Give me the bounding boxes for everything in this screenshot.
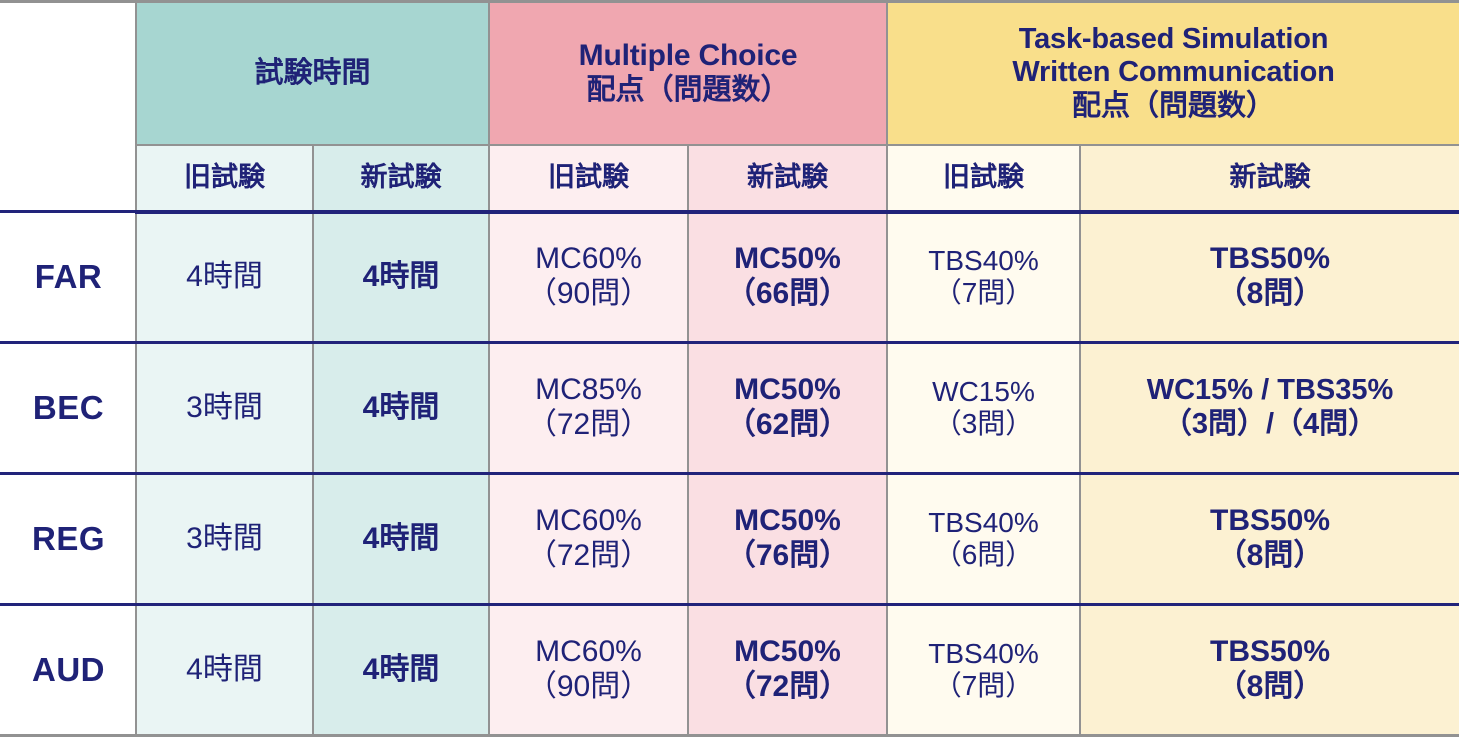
cell-reg-time-new: 4時間 — [313, 474, 489, 605]
cell-bec-mc-new-line2: （62問） — [691, 408, 884, 443]
cell-bec-tbs-new: WC15% / TBS35% （3問）/（4問） — [1080, 343, 1459, 474]
sub-header-tbs-old: 旧試験 — [887, 145, 1080, 212]
row-label-reg: REG — [1, 474, 136, 605]
group-header-tbs-label-en-line1: Task-based Simulation — [890, 23, 1457, 57]
group-header-mc-label-en: Multiple Choice — [492, 39, 884, 74]
cell-aud-tbs-new: TBS50% （8問） — [1080, 605, 1459, 736]
table-row: FAR 4時間 4時間 MC60% （90問） MC50% （66問） TBS4… — [1, 212, 1459, 343]
group-header-tbs-label-en-line2: Written Communication — [890, 56, 1457, 90]
cell-far-mc-old-line1: MC60% — [492, 242, 685, 277]
table-row: REG 3時間 4時間 MC60% （72問） MC50% （76問） TBS4… — [1, 474, 1459, 605]
cell-reg-tbs-old-line2: （6問） — [890, 539, 1077, 571]
cell-bec-mc-old: MC85% （72問） — [489, 343, 688, 474]
row-label-aud: AUD — [1, 605, 136, 736]
cell-reg-mc-old: MC60% （72問） — [489, 474, 688, 605]
cell-aud-tbs-new-line2: （8問） — [1083, 670, 1457, 705]
group-header-multiple-choice: Multiple Choice 配点（問題数） — [489, 2, 887, 145]
table-row: BEC 3時間 4時間 MC85% （72問） MC50% （62問） WC15… — [1, 343, 1459, 474]
cell-bec-tbs-old-line2: （3問） — [890, 408, 1077, 440]
sub-header-tbs-new: 新試験 — [1080, 145, 1459, 212]
cell-reg-tbs-old: TBS40% （6問） — [887, 474, 1080, 605]
table-row: AUD 4時間 4時間 MC60% （90問） MC50% （72問） TBS4… — [1, 605, 1459, 736]
cell-far-mc-new-line1: MC50% — [691, 242, 884, 277]
group-header-mc-label-jp: 配点（問題数） — [492, 74, 884, 108]
cell-bec-tbs-new-line2: （3問）/（4問） — [1083, 408, 1457, 442]
cell-reg-tbs-new-line2: （8問） — [1083, 539, 1457, 574]
cell-reg-mc-new-line2: （76問） — [691, 539, 884, 574]
cell-reg-tbs-new-line1: TBS50% — [1083, 504, 1457, 539]
cell-reg-mc-old-line2: （72問） — [492, 539, 685, 574]
cell-bec-mc-new: MC50% （62問） — [688, 343, 887, 474]
cell-reg-mc-new-line1: MC50% — [691, 504, 884, 539]
cell-far-tbs-new-line1: TBS50% — [1083, 242, 1457, 277]
sub-header-row: 旧試験 新試験 旧試験 新試験 旧試験 新試験 — [1, 145, 1459, 212]
cell-reg-mc-new: MC50% （76問） — [688, 474, 887, 605]
cell-aud-mc-old: MC60% （90問） — [489, 605, 688, 736]
cell-reg-mc-old-line1: MC60% — [492, 504, 685, 539]
cell-far-mc-new-line2: （66問） — [691, 277, 884, 312]
group-header-tbs-label-jp: 配点（問題数） — [890, 90, 1457, 124]
cell-aud-mc-new-line1: MC50% — [691, 635, 884, 670]
cell-aud-tbs-old-line2: （7問） — [890, 670, 1077, 702]
cell-bec-mc-old-line2: （72問） — [492, 408, 685, 443]
cell-far-time-new: 4時間 — [313, 212, 489, 343]
row-label-bec: BEC — [1, 343, 136, 474]
group-header-exam-time: 試験時間 — [136, 2, 489, 145]
cell-far-tbs-new: TBS50% （8問） — [1080, 212, 1459, 343]
group-header-tbs-wc: Task-based Simulation Written Communicat… — [887, 2, 1459, 145]
cell-bec-mc-new-line1: MC50% — [691, 373, 884, 408]
cell-reg-tbs-old-line1: TBS40% — [890, 507, 1077, 539]
cell-far-tbs-new-line2: （8問） — [1083, 277, 1457, 312]
cell-bec-tbs-old-line1: WC15% — [890, 376, 1077, 408]
group-header-exam-time-label: 試験時間 — [255, 57, 371, 89]
cell-bec-mc-old-line1: MC85% — [492, 373, 685, 408]
cell-aud-mc-old-line2: （90問） — [492, 670, 685, 705]
cell-far-tbs-old-line2: （7問） — [890, 277, 1077, 309]
comparison-table: 試験時間 Multiple Choice 配点（問題数） Task-based … — [0, 0, 1459, 737]
cpa-exam-comparison-table: 試験時間 Multiple Choice 配点（問題数） Task-based … — [0, 0, 1459, 737]
row-label-far: FAR — [1, 212, 136, 343]
cell-aud-tbs-new-line1: TBS50% — [1083, 635, 1457, 670]
cell-bec-time-old: 3時間 — [136, 343, 313, 474]
cell-aud-time-old: 4時間 — [136, 605, 313, 736]
sub-header-mc-new: 新試験 — [688, 145, 887, 212]
cell-far-mc-old-line2: （90問） — [492, 277, 685, 312]
cell-far-tbs-old: TBS40% （7問） — [887, 212, 1080, 343]
cell-far-mc-new: MC50% （66問） — [688, 212, 887, 343]
sub-header-exam-time-old: 旧試験 — [136, 145, 313, 212]
table-corner-cell — [1, 2, 136, 212]
sub-header-mc-old: 旧試験 — [489, 145, 688, 212]
cell-aud-tbs-old-line1: TBS40% — [890, 638, 1077, 670]
cell-aud-mc-old-line1: MC60% — [492, 635, 685, 670]
cell-far-mc-old: MC60% （90問） — [489, 212, 688, 343]
group-header-row: 試験時間 Multiple Choice 配点（問題数） Task-based … — [1, 2, 1459, 145]
cell-far-time-old: 4時間 — [136, 212, 313, 343]
cell-far-tbs-old-line1: TBS40% — [890, 245, 1077, 277]
cell-aud-mc-new-line2: （72問） — [691, 670, 884, 705]
cell-bec-tbs-new-line1: WC15% / TBS35% — [1083, 374, 1457, 408]
cell-reg-tbs-new: TBS50% （8問） — [1080, 474, 1459, 605]
cell-reg-time-old: 3時間 — [136, 474, 313, 605]
cell-bec-tbs-old: WC15% （3問） — [887, 343, 1080, 474]
sub-header-exam-time-new: 新試験 — [313, 145, 489, 212]
cell-bec-time-new: 4時間 — [313, 343, 489, 474]
cell-aud-tbs-old: TBS40% （7問） — [887, 605, 1080, 736]
cell-aud-time-new: 4時間 — [313, 605, 489, 736]
cell-aud-mc-new: MC50% （72問） — [688, 605, 887, 736]
